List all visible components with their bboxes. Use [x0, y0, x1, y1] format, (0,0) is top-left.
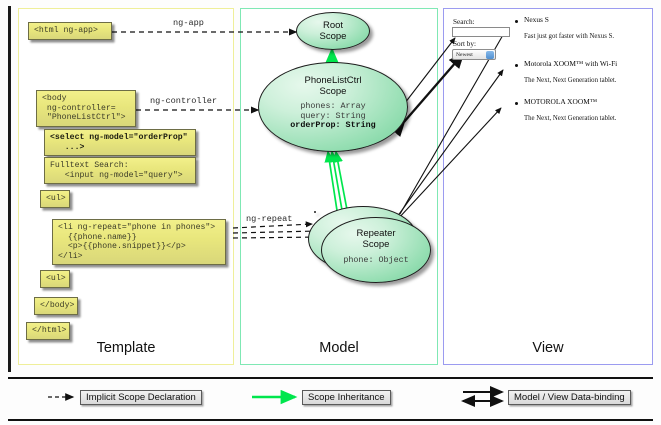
scope-root[interactable]: Root Scope: [296, 12, 370, 50]
code-box-search-input[interactable]: Fulltext Search: <input ng-model="query"…: [44, 157, 196, 184]
legend-rule-top: [8, 377, 653, 379]
scope-repeater-props: phone: Object: [322, 256, 430, 266]
scope-repeater-shell-2: [314, 211, 316, 213]
view-phone-name-0[interactable]: Nexus S: [524, 15, 549, 24]
scope-root-title-line1: Root: [297, 20, 369, 31]
view-phone-name-1[interactable]: Motorola XOOM™ with Wi-Fi: [524, 59, 617, 68]
view-bullet: [515, 20, 518, 23]
code-box-ul-close[interactable]: <ul>: [40, 270, 70, 288]
legend-item-scope-inheritance: Scope Inheritance: [302, 390, 391, 405]
view-phone-snippet-2: The Next, Next Generation tablet.: [524, 115, 616, 122]
panel-label-template: Template: [18, 340, 234, 356]
scope-repeater-title-line1: Repeater: [322, 228, 430, 239]
code-box-html-close[interactable]: </html>: [26, 322, 70, 340]
code-box-li-repeat[interactable]: <li ng-repeat="phone in phones"> {{phone…: [52, 219, 226, 265]
view-bullet: [515, 102, 518, 105]
view-sort-select[interactable]: Newest: [452, 49, 496, 60]
connector-label-ng-repeat: ng-repeat: [246, 214, 292, 224]
view-sort-label: Sort by:: [453, 40, 476, 48]
view-search-input[interactable]: [452, 27, 510, 37]
panel-label-view: View: [443, 340, 653, 356]
legend-item-model-view-data-binding: Model / View Data-binding: [508, 390, 631, 405]
view-sort-selected-value: Newest: [456, 52, 473, 58]
connector-label-ng-app: ng-app: [173, 18, 204, 28]
legend-rule-bottom: [8, 419, 653, 421]
scope-phonelistctrl-title-line2: Scope: [259, 86, 407, 97]
scope-repeater-title-line2: Scope: [322, 239, 430, 250]
code-box-select-tag[interactable]: <select ng-model="orderProp" ...>: [44, 129, 196, 156]
code-box-ul-open[interactable]: <ul>: [40, 190, 70, 208]
scope-root-title-line2: Scope: [297, 31, 369, 42]
code-box-body-close[interactable]: </body>: [34, 297, 78, 315]
scope-repeater[interactable]: Repeater Scope phone: Object: [321, 217, 431, 283]
scope-phonelistctrl[interactable]: PhoneListCtrl Scope phones: Array query:…: [258, 62, 408, 152]
connector-label-ng-controller: ng-controller: [150, 96, 217, 106]
view-bullet: [515, 64, 518, 67]
left-vertical-rule: [8, 6, 11, 372]
legend-item-implicit-scope-declaration: Implicit Scope Declaration: [80, 390, 202, 405]
view-search-label: Search:: [453, 18, 475, 26]
scope-phonelistctrl-props-plain: phones: Array query: String: [259, 102, 407, 121]
scope-phonelistctrl-props-bold: orderProp: String: [259, 121, 407, 131]
diagram-canvas: ng-app ng-controller ng-repeat <html ng-…: [0, 0, 661, 425]
view-phone-snippet-0: Fast just got faster with Nexus S.: [524, 33, 614, 40]
panel-label-model: Model: [240, 340, 438, 356]
legend-arrow-databinding: [463, 392, 502, 401]
view-phone-name-2[interactable]: MOTOROLA XOOM™: [524, 97, 597, 106]
code-box-html-open[interactable]: <html ng-app>: [28, 22, 112, 40]
code-box-body-open[interactable]: <body ng-controller= "PhoneListCtrl">: [36, 90, 136, 127]
chevron-down-icon[interactable]: [486, 51, 494, 59]
view-phone-snippet-1: The Next, Next Generation tablet.: [524, 77, 616, 84]
scope-phonelistctrl-title-line1: PhoneListCtrl: [259, 75, 407, 86]
